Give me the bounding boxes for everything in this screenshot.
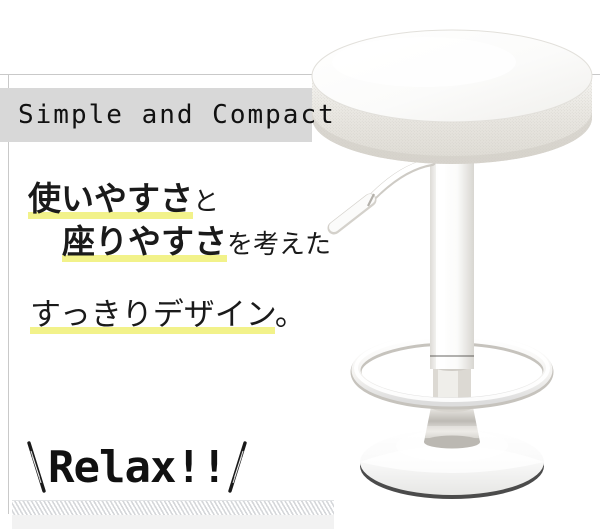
stool-height-adjust-lever: [334, 161, 432, 228]
copy-line-1-highlight: 使いやすさ: [28, 179, 193, 219]
product-image-bar-stool: [300, 14, 600, 519]
copy-line-1: 使いやすさと: [0, 182, 340, 215]
stool-seat-cushion: [312, 30, 592, 164]
hatched-decorative-bar: [12, 500, 334, 516]
headline-banner-label: Simple and Compact: [0, 100, 336, 130]
promo-banner: Simple and Compact 使いやすさと 座りやすさを考えた すっきり…: [0, 0, 600, 529]
relax-label: Relax!!: [48, 442, 226, 493]
bottom-shadow-bar: [12, 515, 334, 529]
relax-callout: Relax!!: [0, 436, 340, 498]
copy-line-2-highlight: 座りやすさ: [62, 222, 227, 262]
headline-banner: Simple and Compact: [0, 88, 312, 142]
copy-line-2-tail: を考えた: [227, 230, 331, 260]
forward-slash-stroke-icon: [226, 439, 248, 495]
copy-line-3-highlight: すっきりデザイン: [30, 297, 275, 334]
copy-line-2: 座りやすさを考えた: [0, 225, 340, 258]
japanese-copy-block: 使いやすさと 座りやすさを考えた すっきりデザイン。: [0, 182, 340, 258]
copy-line-1-tail: と: [193, 187, 219, 217]
copy-line-3: すっきりデザイン。: [0, 300, 306, 331]
stool-center-column: [430, 148, 474, 369]
copy-line-3-tail: 。: [275, 297, 306, 333]
backslash-stroke-icon: [26, 439, 48, 495]
